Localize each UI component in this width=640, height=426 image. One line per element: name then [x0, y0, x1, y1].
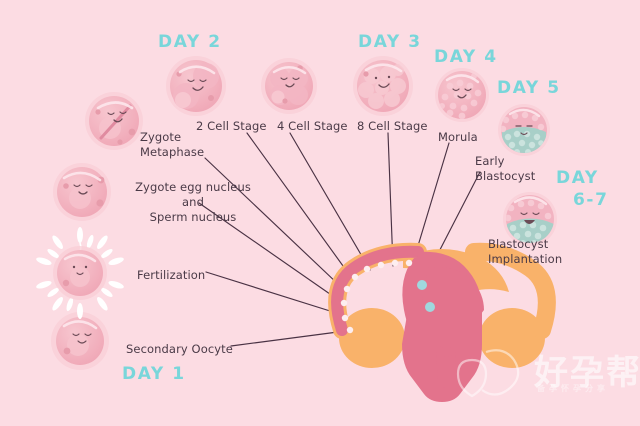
- label-early-blastocyst-line1: Early: [475, 155, 505, 168]
- implant-dot-wall: [425, 302, 435, 312]
- day-label-6-7-line2: 6-7: [573, 190, 609, 210]
- label-zygote-nuclei-line1: Zygote egg nucleus: [118, 181, 268, 194]
- label-zygote-metaphase-line2: Metaphase: [140, 146, 204, 159]
- cell-8-cell: [353, 56, 413, 116]
- label-zygote-metaphase-line1: Zygote: [140, 131, 181, 144]
- day-label-3: DAY 3: [358, 32, 422, 52]
- watermark-sub-text: 备孕怀孕分享: [537, 383, 609, 394]
- label-2-cell-stage: 2 Cell Stage: [196, 120, 267, 133]
- label-blastocyst-implantation-line1: Blastocyst: [488, 238, 548, 251]
- cell-morula: [435, 68, 489, 122]
- label-8-cell-stage: 8 Cell Stage: [357, 120, 428, 133]
- uterus-illustration: [337, 249, 547, 402]
- day-label-5: DAY 5: [497, 78, 561, 98]
- day-label-2: DAY 2: [158, 32, 222, 52]
- cell-fertilization: [35, 227, 124, 319]
- cell-early-blastocyst: [498, 104, 550, 156]
- day-label-4: DAY 4: [434, 47, 498, 67]
- label-secondary-oocyte: Secondary Oocyte: [126, 343, 233, 356]
- cell-2-cell: [166, 56, 226, 116]
- label-zygote-nuclei-line2: and: [118, 196, 268, 209]
- cell-secondary-oocyte: [51, 312, 109, 370]
- label-morula: Morula: [438, 131, 478, 144]
- day-label-6-7-line1: DAY: [556, 168, 599, 188]
- implant-dot-tube: [417, 280, 427, 290]
- cell-zygote-nuclei: [53, 163, 111, 221]
- diagram-canvas: DAY 1 DAY 2 DAY 3 DAY 4 DAY 5 DAY 6-7 Zy…: [0, 0, 640, 426]
- label-4-cell-stage: 4 Cell Stage: [277, 120, 348, 133]
- label-blastocyst-implantation-line2: Implantation: [488, 253, 562, 266]
- label-zygote-nuclei-line3: Sperm nucleus: [118, 211, 268, 224]
- label-early-blastocyst-line2: Blastocyst: [475, 170, 535, 183]
- cell-4-cell: [261, 58, 317, 114]
- leader-fertilization: [206, 272, 346, 316]
- label-fertilization: Fertilization: [137, 269, 205, 282]
- day-label-1: DAY 1: [122, 364, 186, 384]
- cell-zygote-metaphase: [85, 92, 143, 150]
- cervix: [436, 352, 456, 388]
